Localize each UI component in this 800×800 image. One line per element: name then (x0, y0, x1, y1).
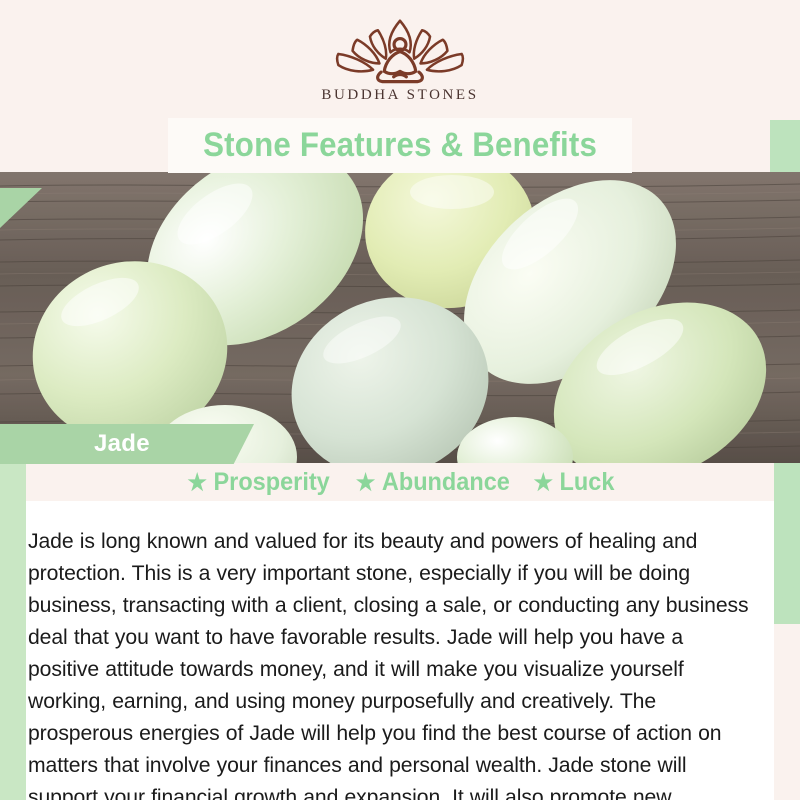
lotus-meditation-icon (320, 16, 480, 84)
star-icon: ★ (533, 471, 552, 494)
brand-logo: BUDDHA STONES (290, 16, 510, 104)
star-icon: ★ (188, 471, 207, 494)
description-text: Jade is long known and valued for its be… (28, 525, 757, 800)
stone-name: Jade (0, 430, 150, 458)
content-area: ★ Prosperity ★ Abundance ★ Luck Jade is … (26, 463, 774, 800)
keyword-label: Luck (559, 468, 614, 497)
brand-name: BUDDHA STONES (290, 87, 510, 104)
star-icon: ★ (356, 471, 375, 494)
stone-name-banner: Jade (0, 424, 254, 464)
stone-photo (0, 172, 800, 463)
infographic-card: BUDDHA STONES Stone Features & Benefits (0, 0, 800, 800)
keyword-label: Prosperity (214, 468, 330, 497)
keyword-label: Abundance (382, 468, 510, 497)
title-banner: Stone Features & Benefits (168, 118, 632, 173)
keyword-item: ★ Luck (533, 468, 614, 497)
page-title: Stone Features & Benefits (203, 126, 597, 165)
keyword-item: ★ Prosperity (188, 468, 330, 497)
keyword-list: ★ Prosperity ★ Abundance ★ Luck (26, 463, 774, 501)
header: BUDDHA STONES (0, 0, 800, 120)
description-panel: Jade is long known and valued for its be… (26, 501, 774, 800)
keyword-item: ★ Abundance (356, 468, 510, 497)
